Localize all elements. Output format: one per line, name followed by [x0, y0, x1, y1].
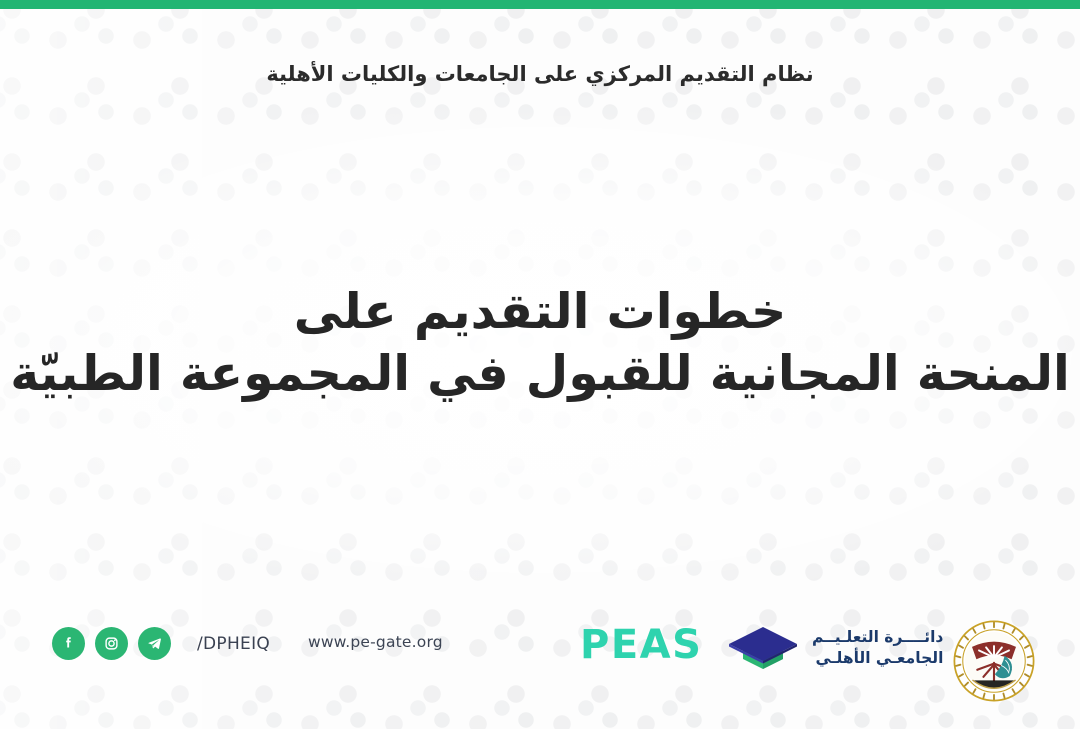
- ministry-of-higher-education-emblem: [950, 617, 1038, 705]
- instagram-icon[interactable]: [95, 627, 128, 660]
- department-name-line-1: دائــــرة التعلـيــم: [812, 627, 943, 648]
- graduation-cap-icon: [726, 625, 800, 671]
- slide-canvas: نظام التقديم المركزي على الجامعات والكلي…: [0, 0, 1080, 729]
- social-links-group: /DPHEIQ: [52, 627, 270, 660]
- telegram-icon[interactable]: [138, 627, 171, 660]
- top-green-bar: [0, 0, 1080, 9]
- department-name-line-2: الجامعـي الأهلـي: [812, 648, 943, 669]
- page-title-line-1: خطوات التقديم على: [0, 282, 1080, 342]
- page-title: خطوات التقديم على المنحة المجانية للقبول…: [0, 282, 1080, 404]
- facebook-icon[interactable]: [52, 627, 85, 660]
- footer-bar: /DPHEIQ www.pe-gate.org PEAS دائــــرة ا…: [0, 609, 1080, 729]
- page-title-line-2: المنحة المجانية للقبول في المجموعة الطبي…: [0, 344, 1080, 404]
- website-url-link[interactable]: www.pe-gate.org: [308, 633, 443, 651]
- social-handle-label[interactable]: /DPHEIQ: [197, 634, 270, 654]
- header-eyebrow-text: نظام التقديم المركزي على الجامعات والكلي…: [0, 62, 1080, 86]
- department-logo-text: دائــــرة التعلـيــم الجامعـي الأهلـي: [812, 627, 943, 669]
- department-logo: دائــــرة التعلـيــم الجامعـي الأهلـي: [726, 625, 943, 671]
- peas-logo-text: PEAS: [580, 625, 702, 665]
